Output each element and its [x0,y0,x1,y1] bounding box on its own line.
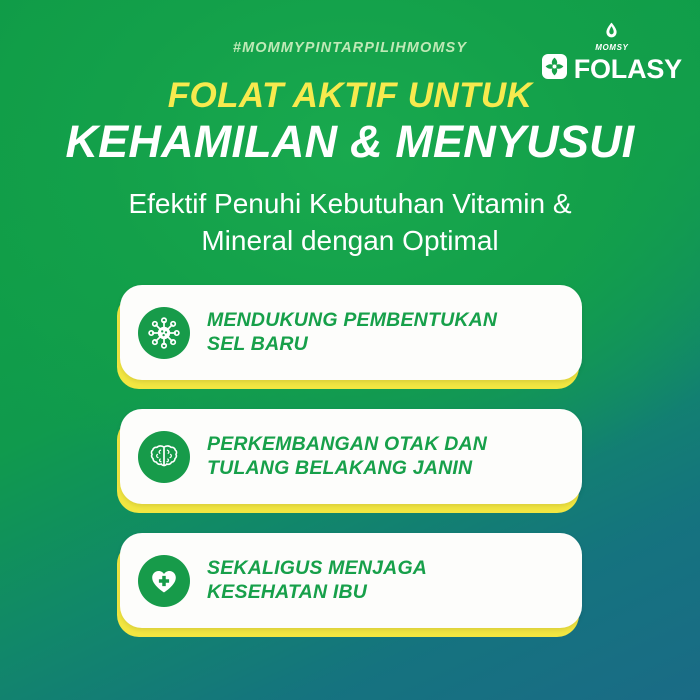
benefit-card: PERKEMBANGAN OTAK DAN TULANG BELAKANG JA… [120,409,582,504]
subtitle-line-1: Efektif Penuhi Kebutuhan Vitamin & [0,186,700,223]
heart-cross-icon [138,555,190,607]
benefit-line-1: MENDUKUNG PEMBENTUKAN [207,309,497,331]
benefit-card-wrapper: PERKEMBANGAN OTAK DAN TULANG BELAKANG JA… [120,409,582,504]
benefit-card-wrapper: SEKALIGUS MENJAGA KESEHATAN IBU [120,533,582,628]
subtitle-line-2: Mineral dengan Optimal [0,223,700,260]
headline-line-1: FOLAT AKTIF UNTUK [0,78,700,113]
benefit-line-2: TULANG BELAKANG JANIN [207,457,472,479]
headline-line-2: KEHAMILAN & MENYUSUI [0,119,700,164]
benefit-card-wrapper: MENDUKUNG PEMBENTUKAN SEL BARU [120,285,582,380]
benefit-card: SEKALIGUS MENJAGA KESEHATAN IBU [120,533,582,628]
benefit-line-2: KESEHATAN IBU [207,581,367,603]
benefit-card-text: PERKEMBANGAN OTAK DAN TULANG BELAKANG JA… [207,433,501,481]
benefit-line-1: SEKALIGUS MENJAGA [207,557,427,579]
page-subtitle: Efektif Penuhi Kebutuhan Vitamin & Miner… [0,186,700,260]
benefit-line-2: SEL BARU [207,333,308,355]
promotional-poster: MOMSY FOLASY #MOMMYPINTARPILIHMOMSY FOLA… [0,0,700,700]
brain-icon [138,431,190,483]
benefit-card-text: SEKALIGUS MENJAGA KESEHATAN IBU [207,557,441,605]
cell-molecule-icon [138,307,190,359]
benefit-line-1: PERKEMBANGAN OTAK DAN [207,433,487,455]
page-title: FOLAT AKTIF UNTUK KEHAMILAN & MENYUSUI [0,78,700,164]
benefit-card-list: MENDUKUNG PEMBENTUKAN SEL BARU [120,285,582,657]
benefit-card: MENDUKUNG PEMBENTUKAN SEL BARU [120,285,582,380]
benefit-card-text: MENDUKUNG PEMBENTUKAN SEL BARU [207,309,511,357]
campaign-hashtag: #MOMMYPINTARPILIHMOMSY [0,40,700,56]
